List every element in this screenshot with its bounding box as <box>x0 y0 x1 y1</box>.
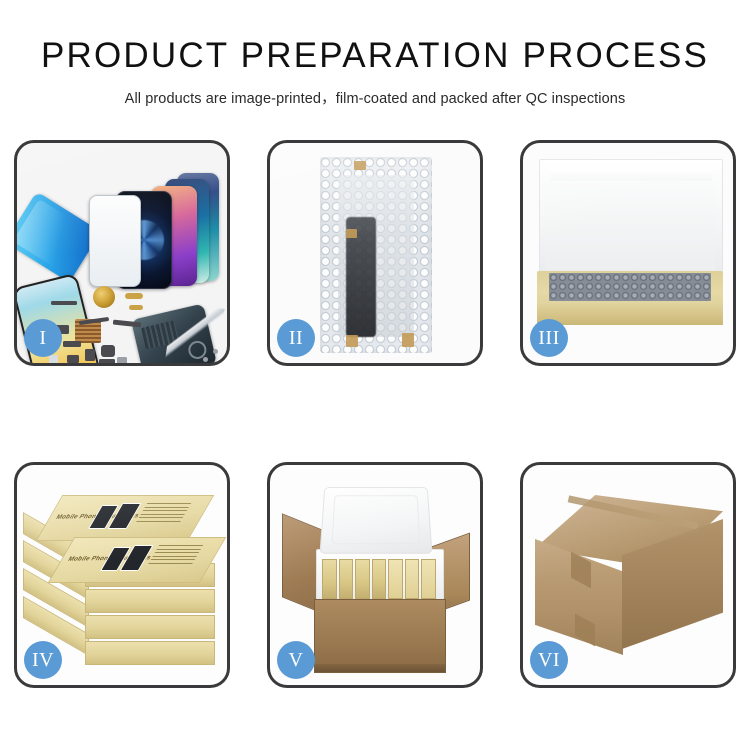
part-block-4 <box>67 355 79 363</box>
part-strip-1 <box>51 301 77 305</box>
page-header: PRODUCT PREPARATION PROCESS All products… <box>0 0 750 108</box>
bubble-wrap-bag-icon <box>320 157 432 353</box>
inner-box-5 <box>388 559 403 599</box>
tape-piece-2 <box>346 229 357 238</box>
part-screw-2 <box>213 349 218 354</box>
step-badge-3: III <box>530 319 568 357</box>
speaker-part-icon <box>93 286 115 308</box>
inner-box-6 <box>405 559 420 599</box>
inner-box-4 <box>372 559 387 599</box>
step-badge-5: V <box>277 641 315 679</box>
page-title: PRODUCT PREPARATION PROCESS <box>0 38 750 75</box>
part-block-5 <box>85 349 95 361</box>
tape-piece-4 <box>402 333 414 347</box>
step-panel-1[interactable]: I <box>14 140 230 366</box>
step-panel-4[interactable]: Mobile Phone Spare Parts Mobile Phone Sp… <box>14 462 230 688</box>
step-badge-4: IV <box>24 641 62 679</box>
part-camera-icon <box>101 345 115 357</box>
part-screw-1 <box>203 357 208 362</box>
step-panel-6[interactable]: VI <box>520 462 736 688</box>
tape-piece-3 <box>346 335 358 347</box>
step-badge-6: VI <box>530 641 568 679</box>
foam-surface <box>545 181 715 273</box>
step-badge-2: II <box>277 319 315 357</box>
stacked-box-front-3 <box>85 615 215 639</box>
inner-box-3 <box>355 559 370 599</box>
step-badge-1: I <box>24 319 62 357</box>
process-steps-grid: I II III <box>14 140 736 688</box>
inner-box-1 <box>322 559 337 599</box>
stacked-box-front-2 <box>85 589 215 613</box>
styrofoam-lid-icon <box>320 487 433 554</box>
kraft-box-front-face <box>537 301 723 325</box>
inner-box-7 <box>421 559 436 599</box>
part-connector-1 <box>125 293 143 299</box>
grey-foam-insert-icon <box>549 273 711 301</box>
step-panel-3[interactable]: III <box>520 140 736 366</box>
part-card-1 <box>49 355 58 363</box>
tape-piece-1 <box>354 161 366 170</box>
inner-box-2 <box>339 559 354 599</box>
step-panel-5[interactable]: V <box>267 462 483 688</box>
part-block-3 <box>63 341 81 347</box>
retail-boxes-inside <box>322 559 436 599</box>
part-block-6 <box>99 359 115 363</box>
box-stack-icon: Mobile Phone Spare Parts Mobile Phone Sp… <box>23 487 223 669</box>
screen-protector-icon <box>89 195 141 287</box>
part-block-7 <box>117 357 127 363</box>
part-connector-2 <box>129 305 143 310</box>
page-subtitle: All products are image-printed，film-coat… <box>0 87 750 108</box>
step-panel-2[interactable]: II <box>267 140 483 366</box>
stacked-box-front-4 <box>85 641 215 665</box>
carton-body <box>314 599 446 673</box>
